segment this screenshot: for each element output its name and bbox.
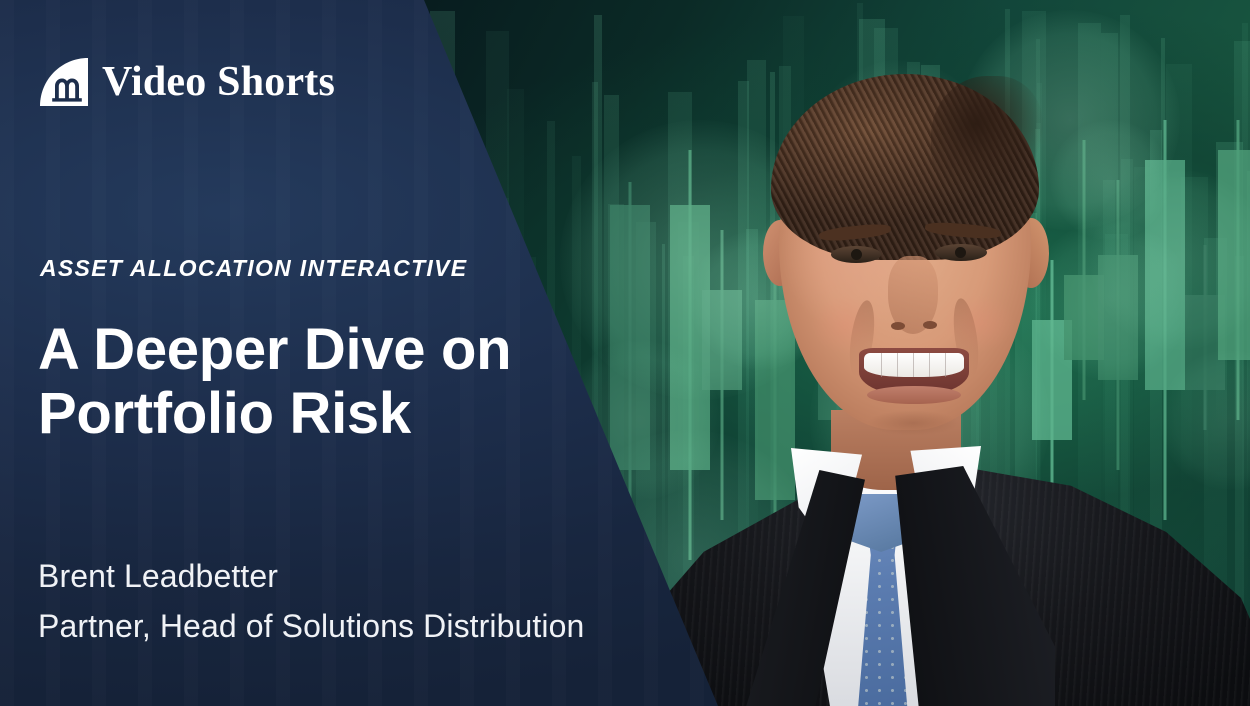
brand-name: Video Shorts [102,61,335,103]
video-thumbnail-slide: Video Shorts ASSET ALLOCATION INTERACTIV… [0,0,1250,706]
title-line-1: A Deeper Dive on [38,317,511,382]
research-affiliates-logo-icon [40,58,88,106]
speaker-credit: Brent Leadbetter Partner, Head of Soluti… [38,552,584,651]
page-title: A Deeper Dive on Portfolio Risk [38,318,598,446]
slide-content: Video Shorts ASSET ALLOCATION INTERACTIV… [0,0,1250,706]
title-line-2: Portfolio Risk [38,381,411,446]
brand-lockup[interactable]: Video Shorts [40,58,335,106]
series-eyebrow: ASSET ALLOCATION INTERACTIVE [40,255,467,282]
speaker-name: Brent Leadbetter [38,558,278,594]
speaker-role: Partner, Head of Solutions Distribution [38,602,584,652]
